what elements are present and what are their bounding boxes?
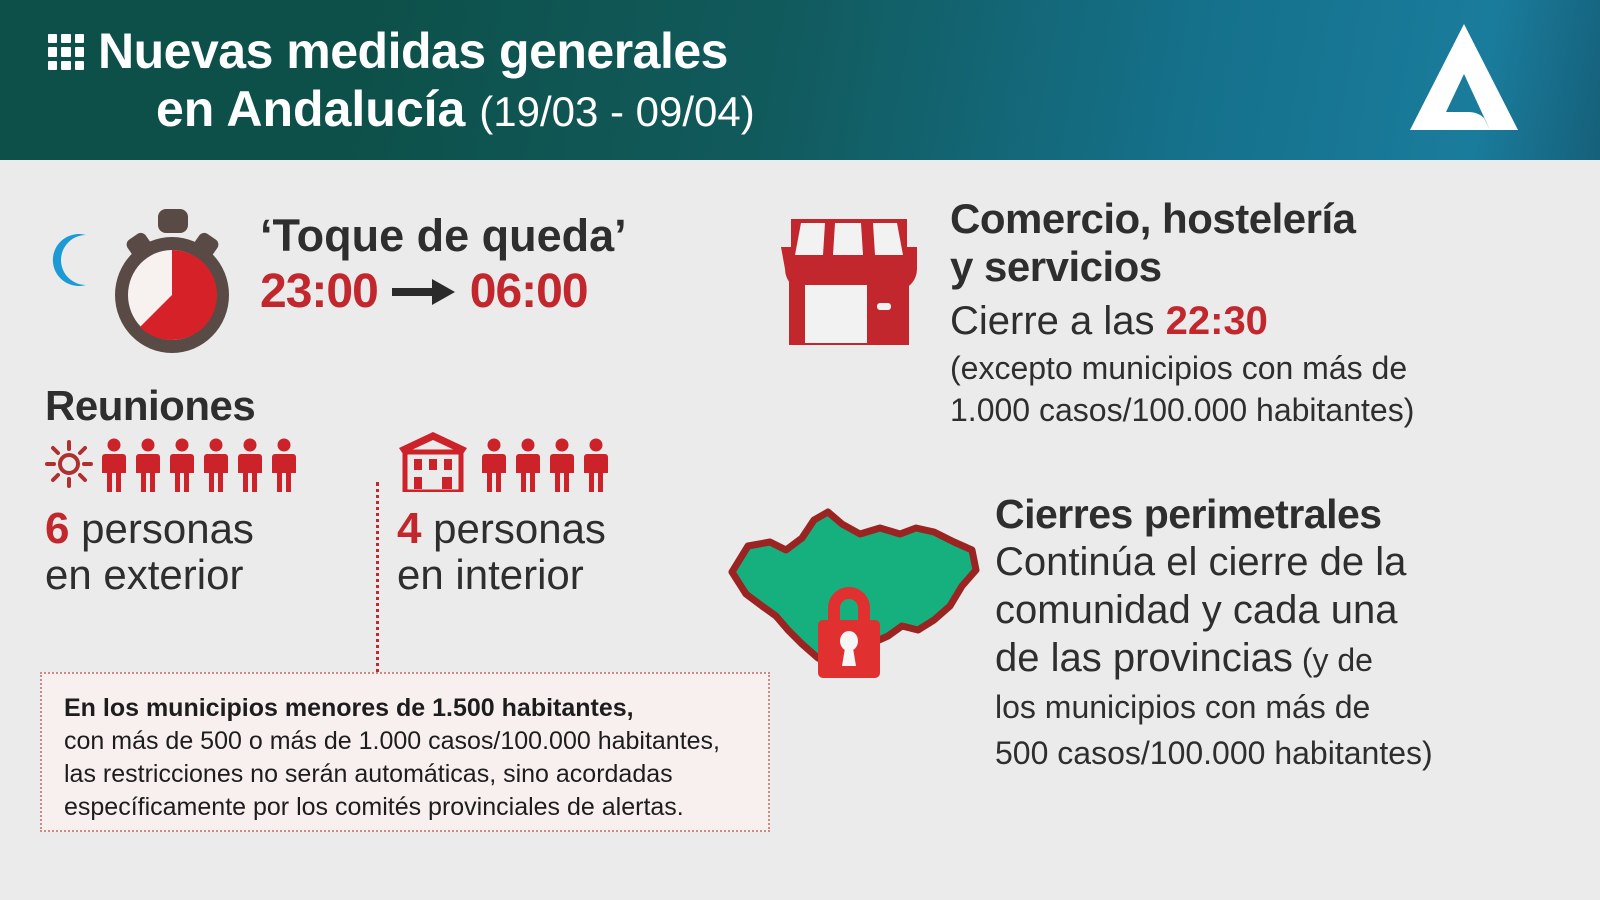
- right-arrow-icon: [392, 277, 456, 307]
- curfew-times: 23:00 06:00: [260, 264, 627, 320]
- person-icon: [201, 438, 231, 492]
- meetings-title: Reuniones: [45, 382, 745, 430]
- interior-count-line: 4 personas: [397, 506, 697, 552]
- person-icon: [479, 438, 509, 492]
- perimeter-line-1: Continúa el cierre de la: [995, 538, 1575, 586]
- header-title-group: Nuevas medidas generales en Andalucía (1…: [48, 22, 755, 141]
- exterior-count: 6: [45, 504, 69, 553]
- commerce-title-line-1: Comercio, hostelería: [950, 195, 1550, 243]
- meetings-columns: 6 personas en exterior: [45, 430, 745, 598]
- curfew-end-time: 06:00: [470, 264, 588, 320]
- footnote-line: específicamente por los comités provinci…: [64, 791, 746, 824]
- page-title-dates: (19/03 - 09/04): [479, 88, 755, 135]
- commerce-text-group: Comercio, hostelería y servicios Cierre …: [950, 195, 1550, 431]
- footnote-box: En los municipios menores de 1.500 habit…: [40, 672, 770, 832]
- footnote-headline: En los municipios menores de 1.500 habit…: [64, 692, 746, 725]
- person-icon: [547, 438, 577, 492]
- interior-count: 4: [397, 504, 421, 553]
- page-title-region: en Andalucía: [156, 81, 465, 137]
- person-icon: [133, 438, 163, 492]
- perimeter-line-2: comunidad y cada una: [995, 586, 1575, 634]
- curfew-text-group: ‘Toque de queda’ 23:00 06:00: [260, 210, 627, 320]
- andalucia-a-logo: [1406, 22, 1522, 134]
- perimeter-line-3-main: de las provincias: [995, 636, 1293, 680]
- perimeter-text-group: Cierres perimetrales Continúa el cierre …: [995, 490, 1575, 776]
- stopwatch-icon: [100, 207, 245, 355]
- crescent-moon-icon: [50, 233, 96, 287]
- perimeter-line-4: los municipios con más de: [995, 684, 1575, 730]
- grid-3x3-icon: [48, 34, 84, 70]
- person-icon: [581, 438, 611, 492]
- title-block: Nuevas medidas generales en Andalucía (1…: [98, 22, 755, 141]
- meetings-divider: [376, 482, 379, 692]
- storefront-icon: [775, 207, 923, 355]
- sun-icon: [45, 440, 93, 488]
- interior-people-group: [479, 438, 615, 492]
- person-icon: [235, 438, 265, 492]
- curfew-start-time: 23:00: [260, 264, 378, 320]
- perimeter-line-5: 500 casos/100.000 habitantes): [995, 730, 1575, 776]
- commerce-closing-line: Cierre a las 22:30: [950, 295, 1550, 347]
- meetings-section: Reuniones: [45, 382, 745, 652]
- exterior-icon-row: [45, 430, 355, 492]
- footnote-line: con más de 500 o más de 1.000 casos/100.…: [64, 725, 746, 758]
- curfew-title: ‘Toque de queda’: [260, 210, 627, 262]
- andalucia-map-lock-icon: [710, 498, 990, 683]
- commerce-closing-prefix: Cierre a las: [950, 299, 1166, 343]
- meetings-interior-column: 4 personas en interior: [397, 430, 697, 598]
- footnote-line: las restricciones no serán automáticas, …: [64, 758, 746, 791]
- person-icon: [269, 438, 299, 492]
- commerce-note-line-2: 1.000 casos/100.000 habitantes): [950, 389, 1550, 431]
- page-title-line-2: en Andalucía (19/03 - 09/04): [156, 80, 755, 141]
- page-header: Nuevas medidas generales en Andalucía (1…: [0, 0, 1600, 160]
- commerce-note-line-1: (excepto municipios con más de: [950, 347, 1550, 389]
- interior-icon-row: [397, 430, 697, 492]
- exterior-count-label: personas: [69, 505, 253, 552]
- exterior-count-line: 6 personas: [45, 506, 355, 552]
- exterior-people-group: [99, 438, 303, 492]
- house-icon: [397, 432, 469, 492]
- person-icon: [167, 438, 197, 492]
- interior-count-label: personas: [421, 505, 605, 552]
- perimeter-line-3: de las provincias (y de: [995, 634, 1575, 684]
- commerce-title-line-2: y servicios: [950, 243, 1550, 291]
- exterior-context-label: en exterior: [45, 552, 355, 598]
- curfew-section: ‘Toque de queda’ 23:00 06:00: [45, 195, 745, 360]
- person-icon: [513, 438, 543, 492]
- person-icon: [99, 438, 129, 492]
- infographic-body: ‘Toque de queda’ 23:00 06:00 Reuniones: [0, 160, 1600, 900]
- perimeter-line-3-small: (y de: [1293, 642, 1373, 678]
- meetings-exterior-column: 6 personas en exterior: [45, 430, 355, 598]
- commerce-closing-time: 22:30: [1166, 299, 1268, 343]
- page-title-line-1: Nuevas medidas generales: [98, 22, 755, 80]
- interior-context-label: en interior: [397, 552, 697, 598]
- perimeter-title: Cierres perimetrales: [995, 490, 1575, 538]
